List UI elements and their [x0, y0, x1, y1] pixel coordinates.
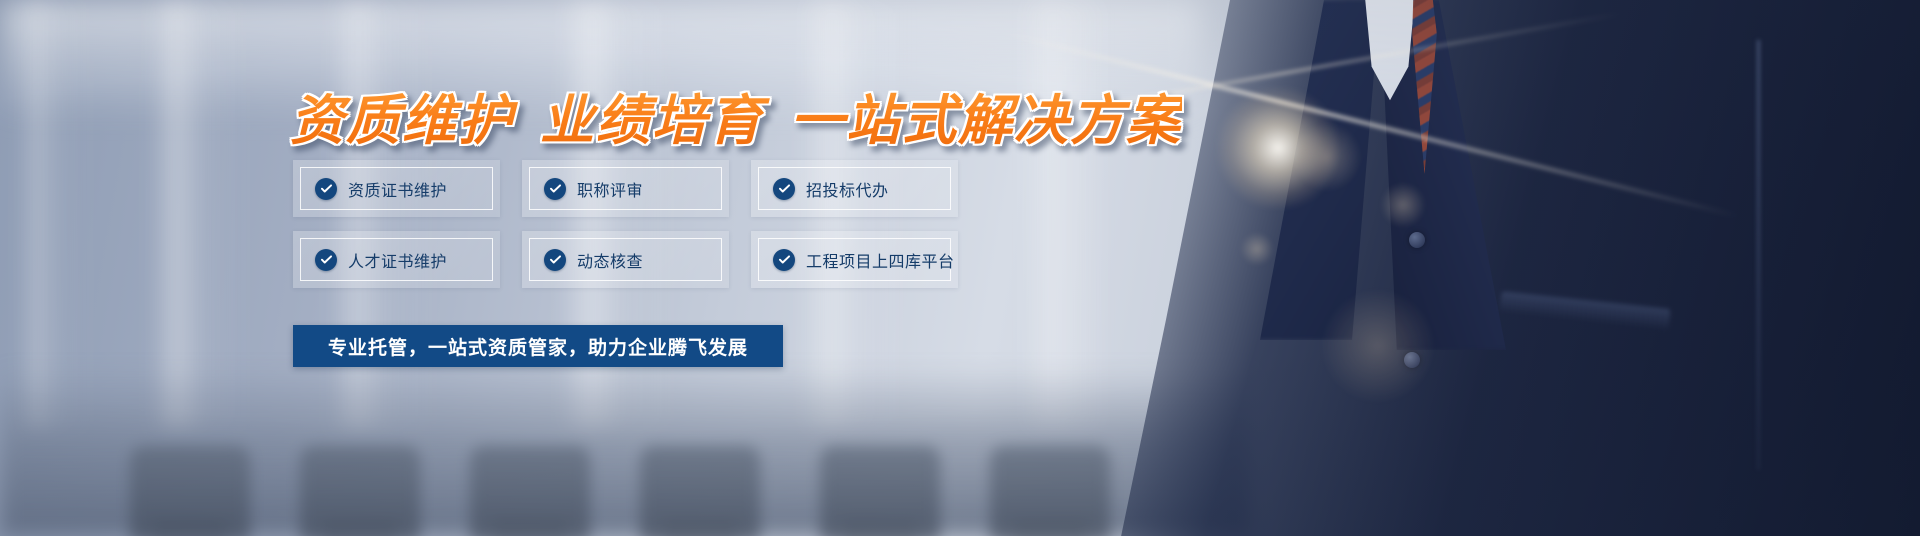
feature-grid: 资质证书维护 职称评审 招投标代办	[293, 160, 958, 288]
headline-part-3: 一站式解决方案	[790, 91, 1182, 151]
feature-item-0[interactable]: 资质证书维护	[293, 160, 500, 217]
headline-part-2: 业绩培育	[540, 91, 764, 151]
feature-item-1[interactable]: 职称评审	[522, 160, 729, 217]
banner-content: 资质维护业绩培育一站式解决方案 资质证书维护 职称评审	[0, 0, 1100, 536]
feature-label: 动态核查	[577, 248, 643, 272]
feature-label: 人才证书维护	[348, 248, 447, 272]
check-circle-icon	[544, 249, 566, 271]
feature-item-5[interactable]: 工程项目上四库平台	[751, 231, 958, 288]
check-circle-icon	[315, 178, 337, 200]
check-circle-icon	[773, 249, 795, 271]
feature-label: 职称评审	[577, 177, 643, 201]
hero-banner: 资质维护业绩培育一站式解决方案 资质证书维护 职称评审	[0, 0, 1920, 536]
check-circle-icon	[315, 249, 337, 271]
feature-item-4[interactable]: 动态核查	[522, 231, 729, 288]
tagline-bar: 专业托管，一站式资质管家，助力企业腾飞发展	[293, 325, 783, 367]
headline: 资质维护业绩培育一站式解决方案	[290, 76, 1182, 155]
check-circle-icon	[773, 178, 795, 200]
feature-label: 招投标代办	[806, 177, 889, 201]
feature-item-2[interactable]: 招投标代办	[751, 160, 958, 217]
check-circle-icon	[544, 178, 566, 200]
tagline-text: 专业托管，一站式资质管家，助力企业腾飞发展	[328, 333, 748, 360]
feature-label: 资质证书维护	[348, 177, 447, 201]
feature-item-3[interactable]: 人才证书维护	[293, 231, 500, 288]
feature-label: 工程项目上四库平台	[806, 248, 955, 272]
headline-part-1: 资质维护	[290, 91, 514, 151]
